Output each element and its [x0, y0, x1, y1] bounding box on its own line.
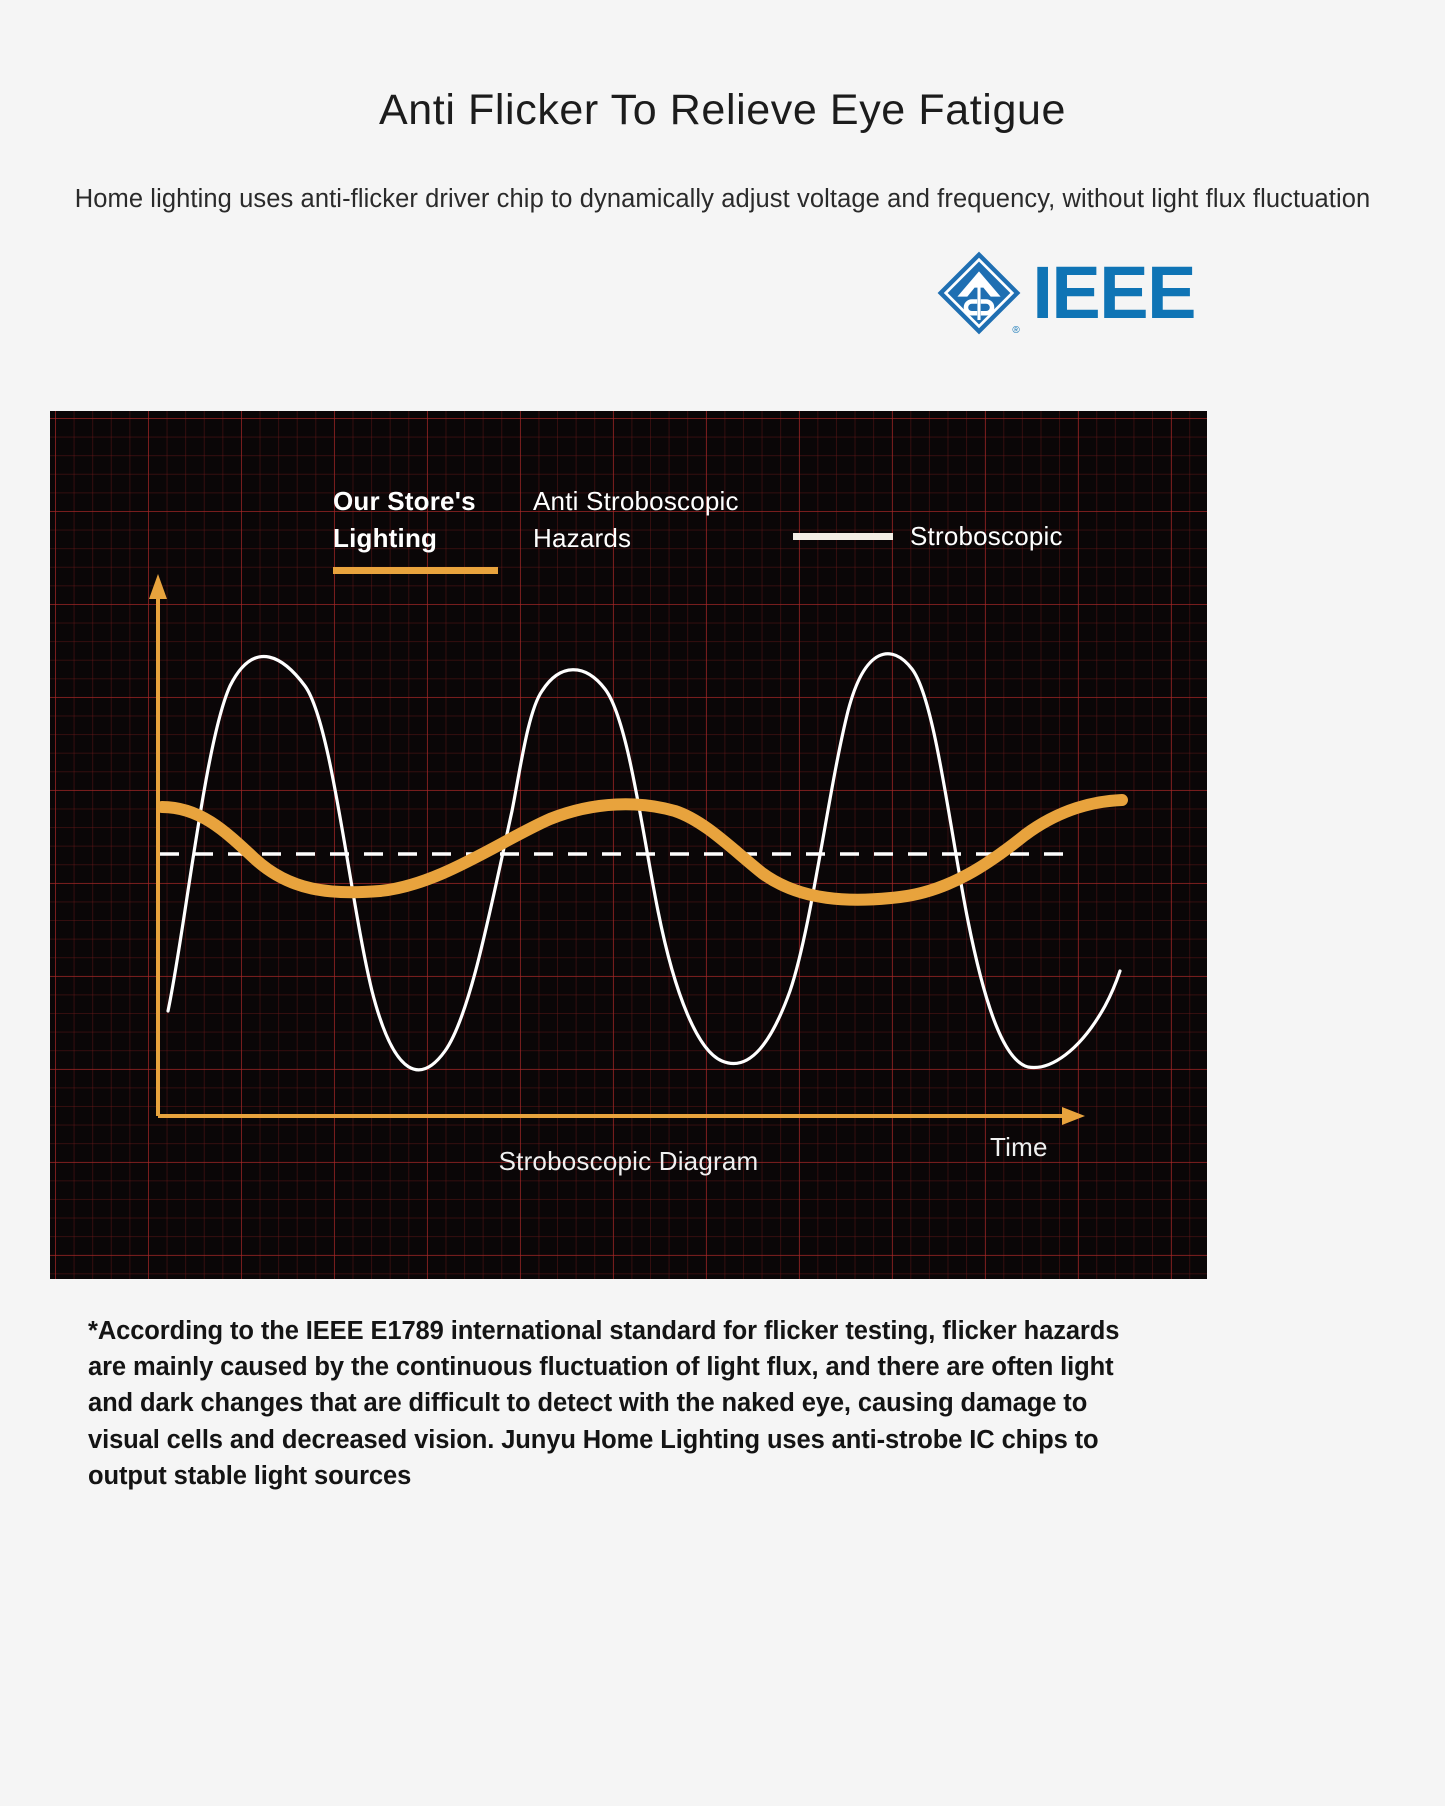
- registered-mark: ®: [1012, 325, 1019, 336]
- legend-item-stroboscopic[interactable]: Stroboscopic: [793, 521, 1063, 552]
- legend-label-anti-stroboscopic: Anti Stroboscopic Hazards: [533, 483, 793, 558]
- chart-legend: Our Store's Lighting Anti Stroboscopic H…: [333, 483, 1063, 558]
- y-axis: [149, 574, 167, 1116]
- ieee-wordmark: IEEE: [1032, 259, 1195, 327]
- footnote-text: *According to the IEEE E1789 internation…: [88, 1313, 1148, 1494]
- legend-item-our-store[interactable]: Our Store's Lighting: [333, 483, 533, 558]
- stroboscopic-chart-panel: Our Store's Lighting Anti Stroboscopic H…: [50, 411, 1207, 1279]
- page-subtitle: Home lighting uses anti-flicker driver c…: [0, 181, 1445, 217]
- ieee-diamond-kite-icon: [934, 248, 1024, 338]
- x-axis: [158, 1107, 1085, 1125]
- legend-swatch-stroboscopic-line: [793, 533, 893, 540]
- page-header: Anti Flicker To Relieve Eye Fatigue Home…: [0, 0, 1445, 217]
- legend-label-stroboscopic: Stroboscopic: [910, 521, 1063, 552]
- legend-item-anti-stroboscopic[interactable]: Anti Stroboscopic Hazards: [533, 483, 793, 558]
- series-stroboscopic-line: [168, 654, 1120, 1070]
- legend-swatch-our-store: [333, 567, 498, 574]
- ieee-logo: IEEE ®: [934, 248, 1195, 338]
- page-title: Anti Flicker To Relieve Eye Fatigue: [0, 86, 1445, 135]
- x-axis-label: Time: [990, 1132, 1048, 1163]
- logo-row: IEEE ®: [0, 245, 1445, 341]
- legend-label-our-store: Our Store's Lighting: [333, 483, 533, 558]
